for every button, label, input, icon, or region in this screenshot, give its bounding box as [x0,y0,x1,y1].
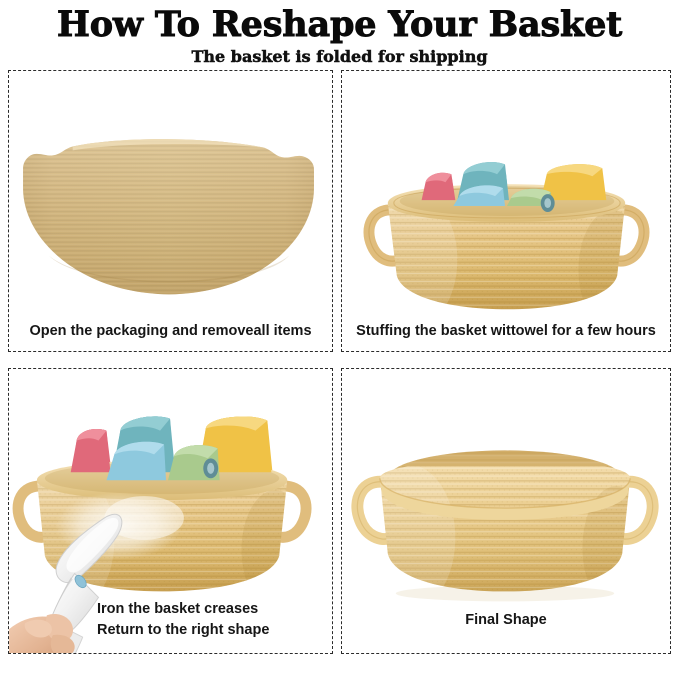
page-subtitle: The basket is folded for shipping [0,47,679,67]
page-title: How To Reshape Your Basket [0,4,679,46]
instruction-panel-3: Iron the basket creases Return to the ri… [8,368,333,654]
panel-2-caption: Stuffing the basket wittowel for a few h… [342,321,670,342]
folded-basket-body [23,139,314,294]
instruction-panel-grid: Open the packaging and removeall items [8,70,671,654]
instruction-panel-4: Final Shape [341,368,671,654]
panel-3-caption-line-2: Return to the right shape [97,620,269,641]
panel-3-caption: Iron the basket creases Return to the ri… [9,599,269,641]
panel-3-caption-line-1: Iron the basket creases [97,599,269,620]
instruction-panel-1: Open the packaging and removeall items [8,70,333,352]
basket-body [366,184,646,329]
panel-4-caption: Final Shape [342,610,670,631]
page-header: How To Reshape Your Basket The basket is… [0,0,679,68]
instruction-panel-2: Stuffing the basket wittowel for a few h… [341,70,671,352]
towels-above-rim [71,416,272,480]
basket-with-towels-illustration [342,71,670,351]
basket-shadow [396,585,614,601]
folded-basket-illustration [9,71,332,351]
panel-1-caption: Open the packaging and removeall items [9,321,332,342]
